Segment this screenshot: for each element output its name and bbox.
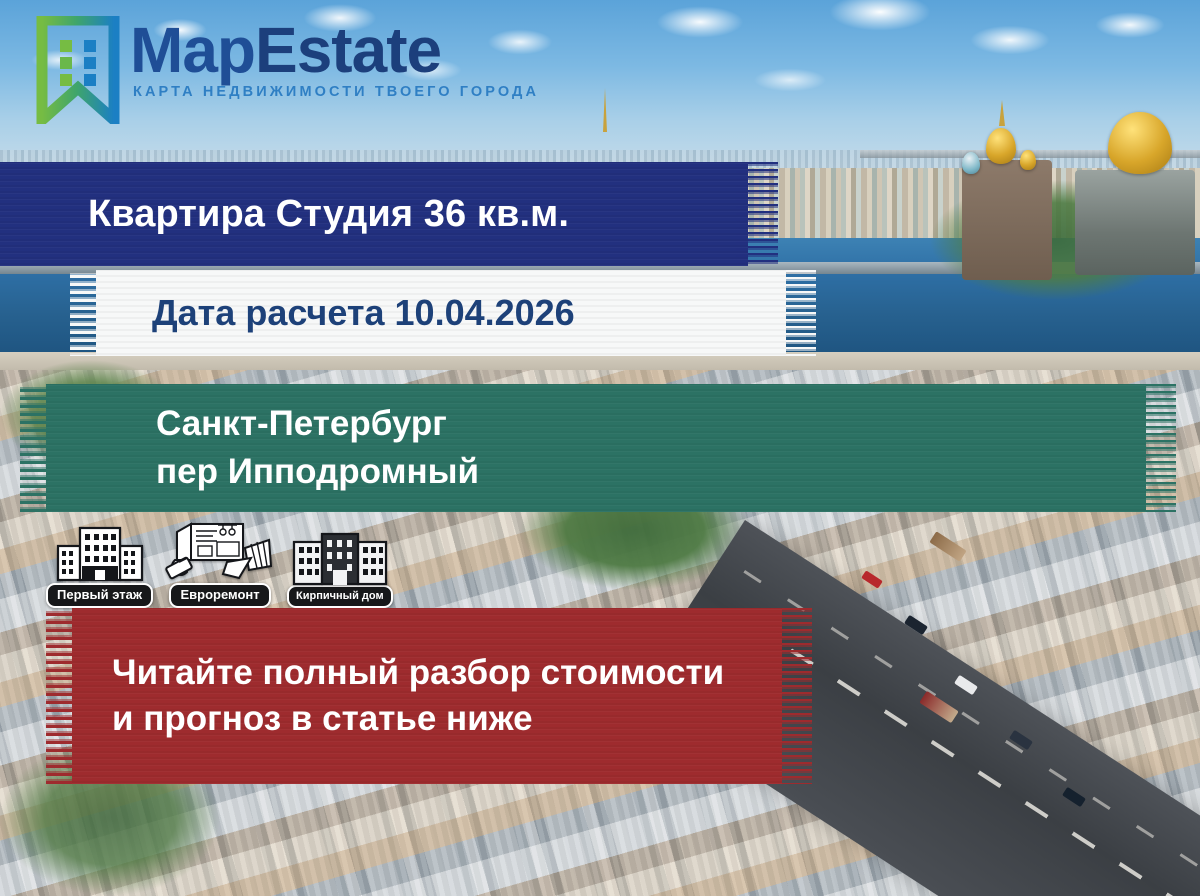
church-spire-icon [999,100,1005,126]
building-first-floor-icon [54,522,146,589]
cta-banner[interactable]: Читайте полный разбор стоимости и прогно… [72,608,782,784]
badge-first-floor[interactable]: Первый этаж [46,522,153,608]
savior-on-spilled-blood-icon [962,160,1052,280]
feature-badges: Первый этаж [46,518,393,608]
location-street-text: пер Ипподромный [156,453,479,491]
brand-name-part2: Estate [255,14,441,86]
brand-tagline: КАРТА НЕДВИЖИМОСТИ ТВОЕГО ГОРОДА [133,84,539,100]
badge-brick-house[interactable]: Кирпичный дом [287,528,393,608]
brick-house-icon [290,528,390,591]
peter-and-paul-spire-icon [603,88,607,132]
brand-name-part1: Map [130,14,255,86]
poster-canvas: MapEstate КАРТА НЕДВИЖИМОСТИ ТВОЕГО ГОРО… [0,0,1200,896]
st-isaacs-cathedral-icon [1075,170,1195,275]
brand-wordmark: MapEstate [130,18,539,82]
property-title-text: Квартира Студия 36 кв.м. [88,193,569,236]
renovation-tools-icon [165,518,275,589]
golden-dome-icon [986,128,1016,164]
small-dome-icon [1020,150,1036,170]
calculation-date-banner: Дата расчета 10.04.2026 [96,270,786,356]
property-title-banner: Квартира Студия 36 кв.м. [0,162,748,266]
bookmark-building-logo-icon [36,16,120,124]
calculation-date-text: Дата расчета 10.04.2026 [152,292,575,334]
location-banner: Санкт-Петербург пер Ипподромный [46,384,1146,512]
cta-text: Читайте полный разбор стоимости и прогно… [112,650,752,742]
blue-dome-icon [962,152,980,174]
badge-euro-renovation[interactable]: Евроремонт [165,518,275,608]
location-city-text: Санкт-Петербург [156,405,479,443]
brand-logo[interactable]: MapEstate КАРТА НЕДВИЖИМОСТИ ТВОЕГО ГОРО… [36,16,539,124]
